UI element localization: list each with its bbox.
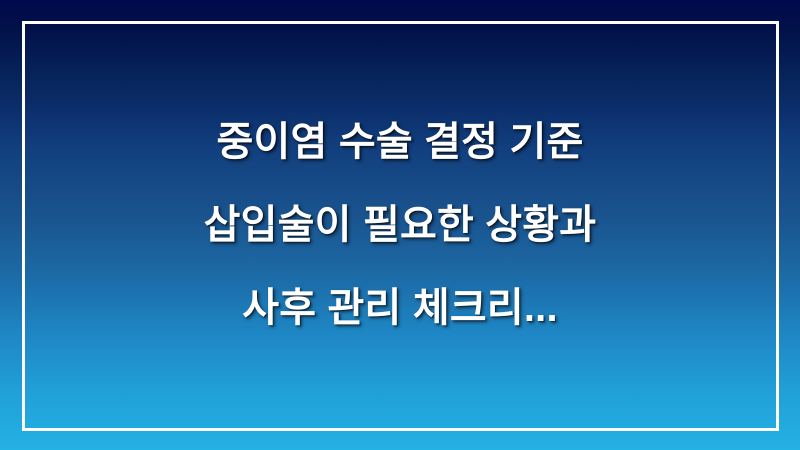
title-card: 중이염 수술 결정 기준 삽입술이 필요한 상황과 사후 관리 체크리... [0, 0, 800, 450]
title-line-1: 중이염 수술 결정 기준 [40, 101, 760, 184]
title-line-2: 삽입술이 필요한 상황과 [40, 184, 760, 267]
title-text-block: 중이염 수술 결정 기준 삽입술이 필요한 상황과 사후 관리 체크리... [0, 0, 800, 450]
title-line-3: 사후 관리 체크리... [40, 267, 760, 350]
